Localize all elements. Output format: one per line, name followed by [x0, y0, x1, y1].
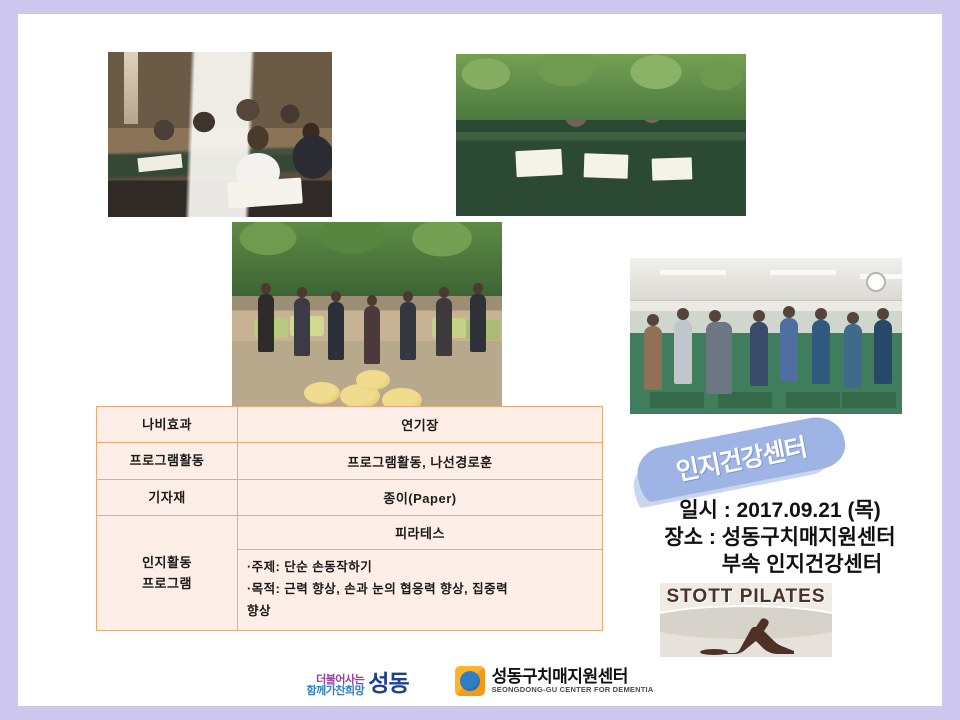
photo-2-mural-wall — [456, 54, 746, 120]
dementia-center-logo: 성동구치매지원센터 SEONGDONG-GU CENTER FOR DEMENT… — [455, 666, 654, 696]
photo-classroom-paper-activity — [108, 52, 332, 217]
table-cell-label: 기자재 — [97, 479, 238, 515]
photo-3-stool — [304, 382, 340, 404]
event-date-line: 일시 : 2017.09.21 (목) — [620, 498, 940, 525]
photo-4-person — [844, 324, 862, 388]
activity-label-line-2: 프로그램 — [142, 576, 192, 591]
footer-logo-bar: 더불어사는 함께가찬희망 성동 성동구치매지원센터 SEONGDONG-GU C… — [0, 656, 960, 706]
photo-3-person — [436, 298, 452, 356]
event-meta-block: 일시 : 2017.09.21 (목) 장소 : 성동구치매지원센터 부속 인지… — [620, 498, 940, 579]
photo-4-ceiling — [630, 258, 902, 301]
photo-4-mat — [786, 392, 840, 408]
table-cell-activity-label: 인지활동 프로그램 — [97, 516, 238, 631]
pilates-figure-icon — [694, 615, 798, 655]
seongdong-district-logo: 더불어사는 함께가찬희망 성동 — [307, 664, 409, 698]
dementia-center-names: 성동구치매지원센터 SEONGDONG-GU CENTER FOR DEMENT… — [492, 667, 654, 694]
photo-1-paper-front — [227, 177, 303, 208]
photo-4-mat — [650, 392, 704, 408]
photo-4-person — [812, 320, 830, 384]
photo-exercise-mats — [630, 258, 902, 414]
seongdong-slogan-line-2: 함께가찬희망 — [307, 686, 365, 698]
table-cell-activity-detail: ·주제: 단순 손동작하기 ·목적: 근력 향상, 손과 눈의 협응력 향상, … — [238, 550, 603, 631]
photo-1-column — [124, 52, 138, 124]
stott-pilates-logo: STOTT PILATES — [660, 583, 832, 657]
table-cell-value: 연기장 — [238, 407, 603, 443]
table-cell-label: 프로그램활동 — [97, 443, 238, 479]
photo-4-person — [644, 326, 662, 390]
photo-2-paper — [584, 153, 629, 179]
photo-4-wall-clock — [866, 272, 886, 292]
photo-group-table-activity — [456, 54, 746, 216]
event-place-line: 장소 : 성동구치매지원센터 — [620, 525, 940, 552]
photo-3-stool — [356, 370, 390, 390]
photo-4-person — [674, 320, 692, 384]
seongdong-slogan: 더불어사는 함께가찬희망 — [307, 675, 365, 698]
table-row: 기자재 종이(Paper) — [97, 479, 603, 515]
photo-4-mat — [842, 392, 896, 408]
dementia-center-mark-icon — [455, 666, 485, 696]
activity-detail-line: ·목적: 근력 향상, 손과 눈의 협응력 향상, 집중력 — [247, 579, 596, 601]
photo-3-person — [328, 302, 344, 360]
table-cell-value: 프로그램활동, 나선경로훈 — [238, 443, 603, 479]
photo-3-person — [294, 298, 310, 356]
activity-detail-line: ·주제: 단순 손동작하기 — [247, 557, 596, 579]
photo-3-garden-backdrop — [232, 222, 502, 296]
dementia-center-name-ko: 성동구치매지원센터 — [492, 667, 654, 686]
seongdong-brand-name: 성동 — [368, 664, 408, 698]
program-info-table: 나비효과 연기장 프로그램활동 프로그램활동, 나선경로훈 기자재 종이(Pap… — [96, 406, 603, 631]
photo-2-paper — [652, 157, 693, 180]
dementia-center-name-en: SEONGDONG-GU CENTER FOR DEMENTIA — [492, 686, 654, 694]
table-cell-value: 종이(Paper) — [238, 479, 603, 515]
photo-3-person — [470, 294, 486, 352]
event-place-line-2: 부속 인지건강센터 — [620, 552, 940, 579]
table-row: 나비효과 연기장 — [97, 407, 603, 443]
photo-3-person — [400, 302, 416, 360]
pilates-logo-wordmark: STOTT PILATES — [660, 586, 832, 608]
activity-detail-line: 향상 — [247, 601, 596, 623]
table-row-activity-heading: 인지활동 프로그램 피라테스 — [97, 516, 603, 550]
table-cell-activity-heading: 피라테스 — [238, 516, 603, 550]
table-row: 프로그램활동 프로그램활동, 나선경로훈 — [97, 443, 603, 479]
photo-4-person — [750, 322, 768, 386]
photo-4-person — [874, 320, 892, 384]
photo-2-paper — [515, 149, 562, 177]
slide-canvas: 나비효과 연기장 프로그램활동 프로그램활동, 나선경로훈 기자재 종이(Pap… — [0, 0, 960, 720]
photo-4-person — [706, 322, 732, 394]
table-cell-label: 나비효과 — [97, 407, 238, 443]
photo-3-person — [364, 306, 380, 364]
photo-hall-standing-group — [232, 222, 502, 414]
activity-label-line-1: 인지활동 — [142, 555, 192, 570]
photo-4-mat — [718, 392, 772, 408]
photo-3-person — [258, 294, 274, 352]
photo-4-person — [780, 318, 798, 382]
